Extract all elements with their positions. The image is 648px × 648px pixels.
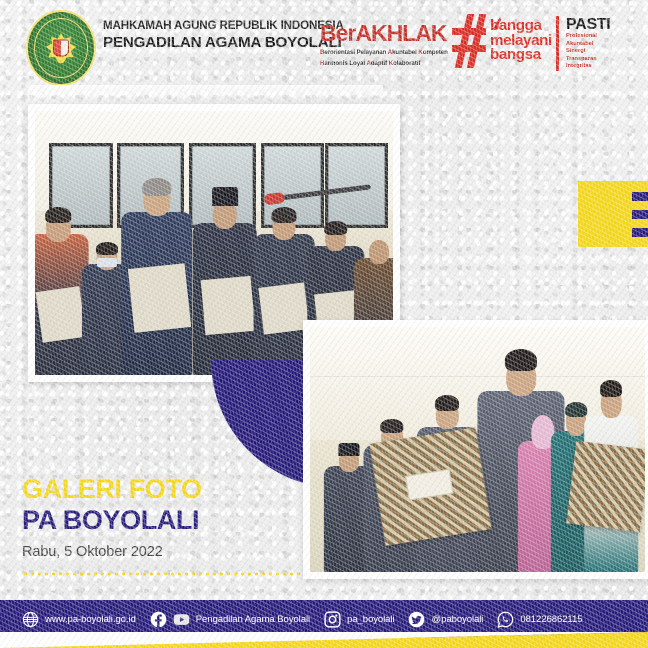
pasti-value-4: Integritas [566,63,648,71]
footer-item-facebook-youtube[interactable]: Pengadilan Agama Boyolali [150,611,310,628]
pasti-value-3: Transparan [566,56,648,64]
yellow-dotted-divider [22,572,302,576]
batik-certificate-folder [370,427,492,545]
hashtag-icon [452,14,486,68]
berakhlak-title: BerAKHLAK [320,22,446,45]
pasti-value-1: Akuntabel [566,41,648,49]
yellow-menu-block [578,181,648,247]
footer-item-twitter[interactable]: @paboyolali [408,611,483,628]
org-line-court: PENGADILAN AGAMA BOYOLALI [103,34,353,51]
pasti-title: PASTI [566,16,648,33]
facebook-icon [150,611,167,628]
footer-label-facebook: Pengadilan Agama Boyolali [196,614,310,625]
org-line-ministry: MAHKAMAH AGUNG REPUBLIK INDONESIA [103,19,353,32]
bangga-word-3: bangsa [490,48,552,63]
footer-label-website: www.pa-boyolali.go.id [45,614,136,625]
header-bar: MAHKAMAH AGUNG REPUBLIK INDONESIA PENGAD… [0,0,648,92]
footer-label-instagram: pa_boyolali [347,614,394,625]
gallery-title-block: GALERI FOTO PA BOYOLALI Rabu, 5 Oktober … [22,474,302,560]
whatsapp-icon [497,611,514,628]
page-title-line1: GALERI FOTO [22,474,302,504]
twitter-icon [408,611,425,628]
poster-canvas: MAHKAMAH AGUNG REPUBLIK INDONESIA PENGAD… [0,0,648,648]
organization-title: MAHKAMAH AGUNG REPUBLIK INDONESIA PENGAD… [103,19,353,51]
footer-label-whatsapp: 081226862115 [520,614,582,625]
page-date: Rabu, 5 Oktober 2022 [22,544,302,560]
bangga-melayani-bangsa-logo: bangga melayani bangsa [452,14,560,68]
footer-label-twitter: @paboyolali [431,614,483,625]
header-shadow-fade [28,85,383,101]
youtube-icon [173,611,190,628]
instagram-icon [324,611,341,628]
pasti-value-0: Profesional [566,33,648,41]
photo-certificate-handover [303,320,648,579]
court-seal-icon [26,10,96,86]
footer-item-instagram[interactable]: pa_boyolali [324,611,394,628]
globe-icon [22,611,39,628]
pasti-logo: PASTI Profesional Akuntabel Sinergi Tran… [556,16,648,71]
footer-item-whatsapp[interactable]: 081226862115 [497,611,582,628]
page-title-line2: PA BOYOLALI [22,505,302,535]
footer-item-website[interactable]: www.pa-boyolali.go.id [22,611,136,628]
pasti-value-2: Sinergi [566,48,648,56]
